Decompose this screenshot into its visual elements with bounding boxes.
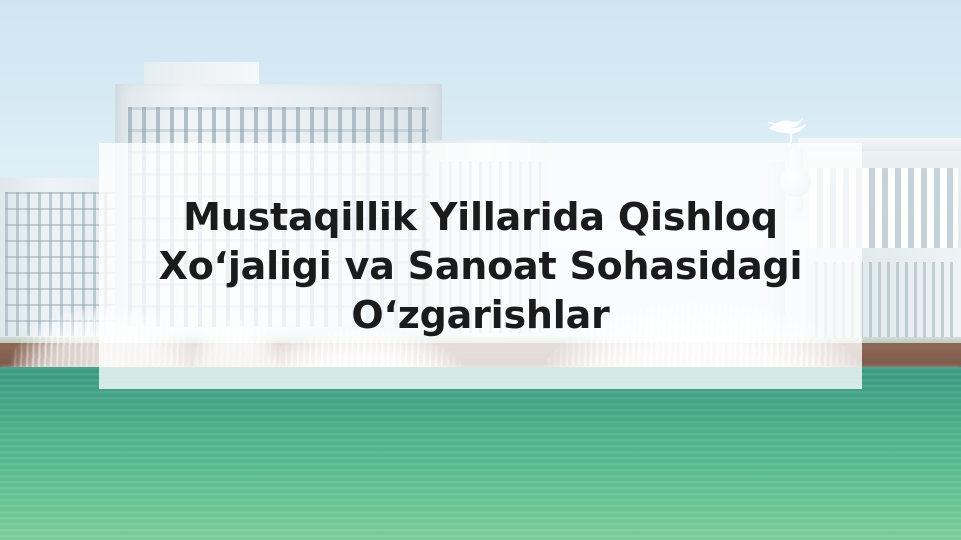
slide-title: Mustaqillik Yillarida Qishloq Xo‘jaligi … [99, 193, 862, 339]
title-overlay-band: Mustaqillik Yillarida Qishloq Xo‘jaligi … [99, 143, 862, 389]
slide-canvas: Mustaqillik Yillarida Qishloq Xo‘jaligi … [0, 0, 961, 540]
water-pool [0, 367, 961, 540]
